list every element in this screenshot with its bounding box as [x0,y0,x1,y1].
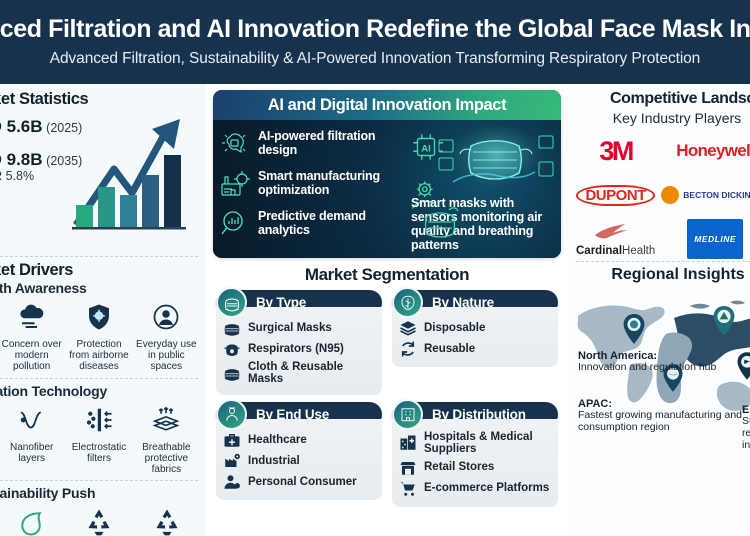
surgical-mask-icon [223,319,241,337]
list-item[interactable]: Retail Stores [399,459,552,477]
ai-panel-header: AI and Digital Innovation Impact [213,90,561,120]
driver-group-filtration-title: Filtration Technology [0,383,198,399]
market-statistics-title: Market Statistics [0,90,198,109]
divider-competitive [576,261,750,262]
regional-insights-title: Regional Insights [606,266,750,284]
recycle-icon [67,503,132,536]
segmentation-grid: By Type S [212,290,562,507]
smart-mask-icon [419,202,463,242]
page-subtitle: Advanced Filtration, Sustainability & AI… [50,50,700,68]
list-item[interactable]: Personal Consumer [223,473,376,491]
ai-item: Predictive demand analytics [219,208,407,240]
store-icon [399,459,417,477]
region-desc: Fastest growing manufacturing and consum… [578,409,742,433]
becton-sun-icon [661,186,679,204]
driver-group-sustainability: Sustainability Push Reusable masks [0,485,198,536]
breathable-fabric-icon [135,401,198,439]
ai-brain-icon [219,128,251,160]
doctor-icon [216,399,247,430]
market-segmentation-title: Market Segmentation [212,265,562,285]
segmentation-card-items: Hospitals & Medical Suppliers Retail Sto… [392,419,558,507]
medical-bag-icon [223,431,241,449]
list-item[interactable]: E-commerce Platforms [399,480,552,498]
market-statistics-block: USD 5.6B (2025) to USD 9.8B (2035) CAGR … [0,109,198,251]
driver-item: Reusable masks [0,503,63,536]
list-item[interactable]: Cloth & Reusable Masks [223,361,376,386]
segmentation-card-title: By Distribution [432,407,526,422]
ai-items-list: AI-powered filtration design Smart manuf… [219,128,407,248]
driver-item: Protection from airborne diseases [67,298,130,373]
cardinal-light: Health [622,245,655,257]
ai-item: AI-powered filtration design [219,128,407,160]
center-column: AI and Digital Innovation Impact AI-powe… [206,84,568,536]
electrostatic-filter-icon [67,401,130,439]
analytics-magnifier-icon [219,208,251,240]
divider-health [0,378,198,379]
smart-factory-icon [219,168,251,200]
driver-item: Breathable protective fabrics [135,401,198,476]
list-item-label: Healthcare [248,434,307,446]
cardinal-wrap: CardinalHealth [576,222,655,257]
key-industry-players-subtitle: Key Industry Players [604,110,750,126]
shield-virus-icon [67,298,130,336]
list-item[interactable]: Healthcare [223,431,376,449]
person-mask-icon [135,298,198,336]
logo-honeywell: Honeywell [661,136,750,166]
region-desc: Strong regulatory influence [742,415,750,451]
nanofiber-icon [0,401,63,439]
segmentation-card-title: By End Use [256,407,329,422]
driver-item-label: Protection from airborne diseases [67,339,130,373]
infographic-page: Advanced Filtration and AI Innovation Re… [0,0,750,536]
logo-becton-text: BECTON DICKINSON [683,191,750,200]
leaf-brain-icon [392,287,423,318]
divider-statistics [0,256,198,257]
segmentation-card-items: Disposable Reusable [392,307,558,367]
logo-3m-text: 3M [599,136,632,167]
logo-cardinal-health: CardinalHealth [576,224,655,254]
list-item[interactable]: Respirators (N95) [223,340,376,358]
refresh-cycle-icon [399,340,417,358]
list-item-label: Cloth & Reusable Masks [248,361,376,386]
segmentation-card-items: Healthcare Industrial [216,419,382,500]
driver-item-label: Electrostatic filters [67,442,130,464]
segmentation-card-title: By Nature [432,295,494,310]
logo-medline-text: MEDLINE [687,219,743,259]
stat-2025-value: USD 5.6B [0,117,43,136]
pin-north-america[interactable] [622,314,646,344]
logo-honeywell-text: Honeywell [676,141,750,161]
driver-item: Recyclable packaging [135,503,198,536]
industrial-gear-icon [223,452,241,470]
ai-item-label: Smart manufacturing optimization [258,170,407,198]
driver-group-health-title: Health Awareness [0,280,198,296]
smart-mask-hologram [435,124,557,204]
list-item[interactable]: Hospitals & Medical Suppliers [399,431,552,456]
driver-group-filtration: Filtration Technology Nanofiber layers [0,383,198,476]
driver-icon-row-filtration: Nanofiber layers Electros [0,401,198,476]
list-item-label: Respirators (N95) [248,343,344,355]
ai-innovation-panel: AI and Digital Innovation Impact AI-powe… [213,90,561,258]
ai-item: Smart manufacturing optimization [219,168,407,200]
driver-group-sustainability-title: Sustainability Push [0,485,198,501]
region-note-north-america: North America: Innovation and regulation… [578,350,716,374]
segmentation-card-by-distribution[interactable]: By Distribution [392,402,558,507]
market-drivers-title: Market Drivers [0,261,198,280]
face-mask-icon [216,287,247,318]
driver-item: Everyday use in public spaces [135,298,198,373]
competitive-landscape-title: Competitive Landscape [610,90,750,108]
list-item-label: Disposable [424,322,485,334]
ai-item-label: AI-powered filtration design [258,130,407,158]
driver-item-label: Everyday use in public spaces [135,339,198,373]
svg-text:AI: AI [421,143,431,154]
respirator-icon [223,340,241,358]
list-item-label: Reusable [424,343,475,355]
region-note-apac: APAC: Fastest growing manufacturing and … [578,398,750,434]
driver-item: Biodegradable materials [67,503,132,536]
list-item-label: Retail Stores [424,461,494,473]
driver-item-label: Concern over modern pollution [0,339,63,373]
ai-panel-title: AI and Digital Innovation Impact [268,96,506,115]
segmentation-card-by-end-use[interactable]: By End Use [216,402,382,507]
recycle-icon [135,503,198,536]
region-desc: Innovation and regulation hub [578,361,716,373]
ai-panel-body: AI-powered filtration design Smart manuf… [213,120,561,258]
hospital-icon [399,434,417,452]
driver-item-label: Breathable protective fabrics [135,442,198,476]
pin-europe[interactable] [712,306,736,336]
layers-icon [399,319,417,337]
cloth-mask-icon [223,364,241,382]
logo-dupont: DUPONT [576,180,655,210]
list-item[interactable]: Surgical Masks [223,319,376,337]
list-item[interactable]: Disposable [399,319,552,337]
list-item-label: Hospitals & Medical Suppliers [424,431,552,456]
logo-cardinal-text: CardinalHealth [576,245,655,257]
smog-cloud-icon [0,298,63,336]
stat-2035-value: USD 9.8B [0,150,43,169]
driver-item-label: Nanofiber layers [0,442,63,464]
left-column: Market Statistics USD 5.6B (2025) to USD… [0,84,206,536]
pin-africa[interactable] [736,352,750,380]
region-note-europe: Europe: Strong regulatory influence [742,404,750,452]
list-item[interactable]: Reusable [399,340,552,358]
segmentation-card-by-type[interactable]: By Type S [216,290,382,395]
ai-item-label: Predictive demand analytics [258,210,407,238]
page-header: Advanced Filtration and AI Innovation Re… [0,0,750,84]
hospital-building-icon [392,399,423,430]
page-title: Advanced Filtration and AI Innovation Re… [0,16,750,42]
driver-icon-row-health: Concern over modern pollution Protection… [0,298,198,373]
segmentation-card-items: Surgical Masks Respirators (N95) [216,307,382,395]
infographic-body: Market Statistics USD 5.6B (2025) to USD… [0,84,750,536]
logo-becton-dickinson: BECTON DICKINSON [661,180,750,210]
list-item-label: Industrial [248,455,300,467]
list-item[interactable]: Industrial [223,452,376,470]
shopping-cart-icon [399,480,417,498]
segmentation-card-title: By Type [256,295,306,310]
segmentation-card-by-nature[interactable]: By Nature [392,290,558,395]
logo-3m: 3M [576,136,655,166]
cardinal-bird-icon [593,222,639,240]
driver-item: Nanofiber layers [0,401,63,476]
cardinal-bold: Cardinal [576,245,622,257]
logo-grid: 3M Honeywell DUPONT BECTON DICKINSON [576,132,750,256]
driver-item: Electrostatic filters [67,401,130,476]
driver-item: Concern over modern pollution [0,298,63,373]
person-check-icon [223,473,241,491]
list-item-label: Personal Consumer [248,476,357,488]
logo-dupont-text: DUPONT [576,185,654,206]
leaf-cycle-icon [0,503,63,536]
list-item-label: E-commerce Platforms [424,482,549,494]
divider-filtration [0,480,198,481]
regional-map: North America: Innovation and regulation… [576,286,750,454]
growth-bar-chart [68,113,192,237]
driver-group-health: Health Awareness Concern over modern pol… [0,280,198,373]
logo-medline: MEDLINE [661,224,750,254]
driver-icon-row-sustainability: Reusable masks Biodegradable materials [0,503,198,536]
list-item-label: Surgical Masks [248,322,332,334]
right-column: Competitive Landscape Key Industry Playe… [568,84,750,536]
